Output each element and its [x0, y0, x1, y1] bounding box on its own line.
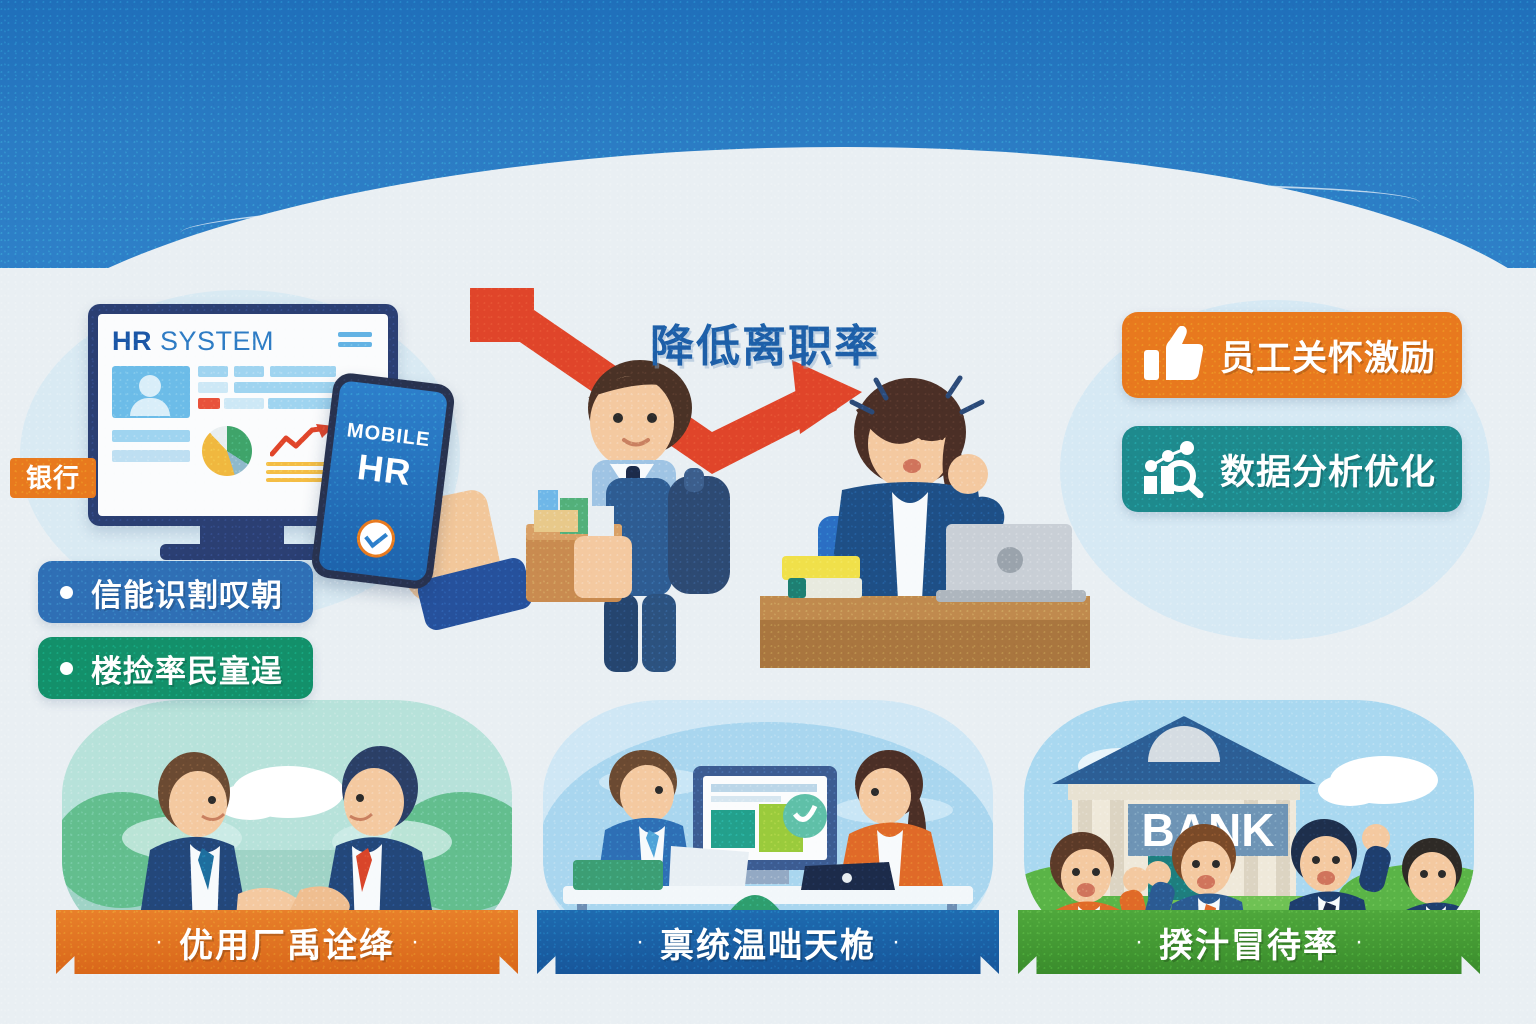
header-swoosh-line	[179, 171, 1420, 265]
card-office-meeting-ribbon: · 禀统温咄天桅 ·	[537, 910, 999, 974]
chart-magnifier-icon	[1142, 440, 1204, 498]
ribbon-dot-right: ·	[1355, 928, 1363, 956]
ribbon-dot-left: ·	[1135, 928, 1143, 956]
badge-employee-care[interactable]: 员工关怀激励	[1122, 312, 1462, 398]
hr-phone-label: HR	[355, 446, 414, 494]
poster-header	[0, 0, 1536, 268]
pill-item-1[interactable]: 信能识割叹朝	[38, 561, 313, 623]
phone-screen: MOBILE HR	[318, 380, 448, 582]
reduce-turnover-headline: 降低离职率	[600, 310, 930, 374]
card-bank-celebration[interactable]: BANK	[1024, 700, 1474, 1000]
pill-item-1-label: 信能识割叹朝	[91, 570, 283, 615]
check-circle-icon	[355, 517, 397, 559]
card-handshake-label: 优用厂禹诠绛	[179, 918, 395, 967]
bottom-cards-row: · 优用厂禹诠绛 ·	[0, 700, 1536, 1024]
badge-employee-care-label: 员工关怀激励	[1220, 330, 1436, 381]
card-office-meeting-label: 禀统温咄天桅	[660, 918, 876, 967]
badge-data-analysis[interactable]: 数据分析优化	[1122, 426, 1462, 512]
monitor-base	[160, 544, 324, 560]
bullet-dot-icon	[60, 662, 73, 675]
card-handshake[interactable]: · 优用厂禹诠绛 ·	[62, 700, 512, 1000]
infographic-poster: 如何通过人力资源系统与移动人事系统 降低银行业新员工离职率 仍属人事系统厂禹盼诠…	[0, 0, 1536, 1024]
ribbon-dot-left: ·	[636, 928, 644, 956]
header-swoosh-line-2	[240, 184, 1341, 247]
mobile-label: MOBILE	[346, 419, 432, 452]
leaving-employee-illustration	[500, 348, 750, 678]
monitor-stand	[200, 524, 284, 546]
bank-box-label: 银行	[10, 458, 96, 498]
ribbon-dot-right: ·	[411, 928, 419, 956]
ribbon-dot-left: ·	[155, 928, 163, 956]
pill-item-2[interactable]: 楼捡率民童逞	[38, 637, 313, 699]
card-office-meeting[interactable]: · 禀统温咄天桅 ·	[543, 700, 993, 1000]
thumbs-up-icon	[1142, 326, 1204, 384]
mobile-hr-phone: MOBILE HR	[310, 371, 456, 590]
badge-data-analysis-label: 数据分析优化	[1220, 444, 1436, 495]
system-label: SYSTEM	[160, 326, 274, 356]
card-bank-celebration-ribbon: · 揆汁冒待率 ·	[1018, 910, 1480, 974]
user-avatar-icon	[112, 366, 190, 418]
card-handshake-ribbon: · 优用厂禹诠绛 ·	[56, 910, 518, 974]
stressed-employee-illustration	[760, 368, 1090, 668]
ribbon-dot-right: ·	[892, 928, 900, 956]
card-bank-celebration-label: 揆汁冒待率	[1159, 918, 1339, 967]
hr-system-title: HR SYSTEM	[112, 326, 374, 357]
pie-chart-icon	[202, 426, 252, 476]
hr-label: HR	[112, 326, 152, 356]
hamburger-icon	[338, 332, 372, 352]
pill-item-2-label: 楼捡率民童逞	[91, 646, 283, 691]
bullet-dot-icon	[60, 586, 73, 599]
